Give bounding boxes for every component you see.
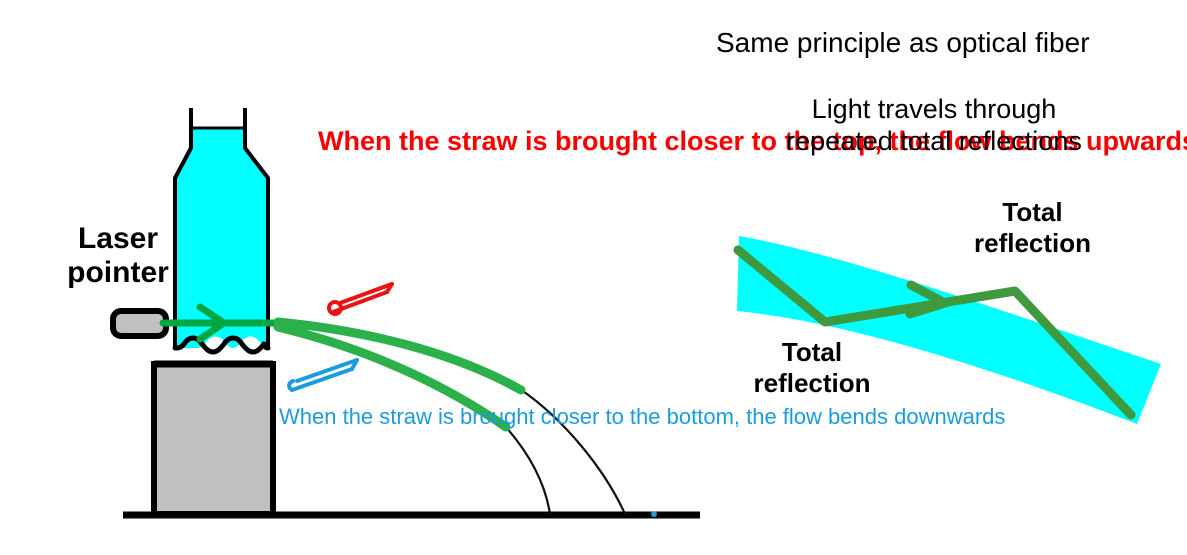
blue-callout-text: When the straw is brought closer to the … <box>279 404 514 430</box>
red-callout-text: When the straw is brought closer to the … <box>318 125 628 158</box>
stream-ground-dot <box>651 511 657 517</box>
total-reflection-label-top: Total reflection <box>945 197 1120 259</box>
red-straw-icon <box>329 284 392 314</box>
optical-fiber-subheading: Light travels through repeated total ref… <box>714 93 1154 158</box>
total-reflection-label-bottom: Total reflection <box>722 337 902 399</box>
diagram-canvas: Laser pointer When the straw is brought … <box>0 0 1187 555</box>
lower-stream-tail <box>505 426 550 514</box>
blue-straw-icon <box>289 360 357 390</box>
laser-pointer-body <box>113 311 166 336</box>
laser-pointer-label: Laser pointer <box>38 222 198 290</box>
support-block <box>154 364 273 514</box>
optical-fiber-heading: Same principle as optical fiber <box>716 27 1166 59</box>
